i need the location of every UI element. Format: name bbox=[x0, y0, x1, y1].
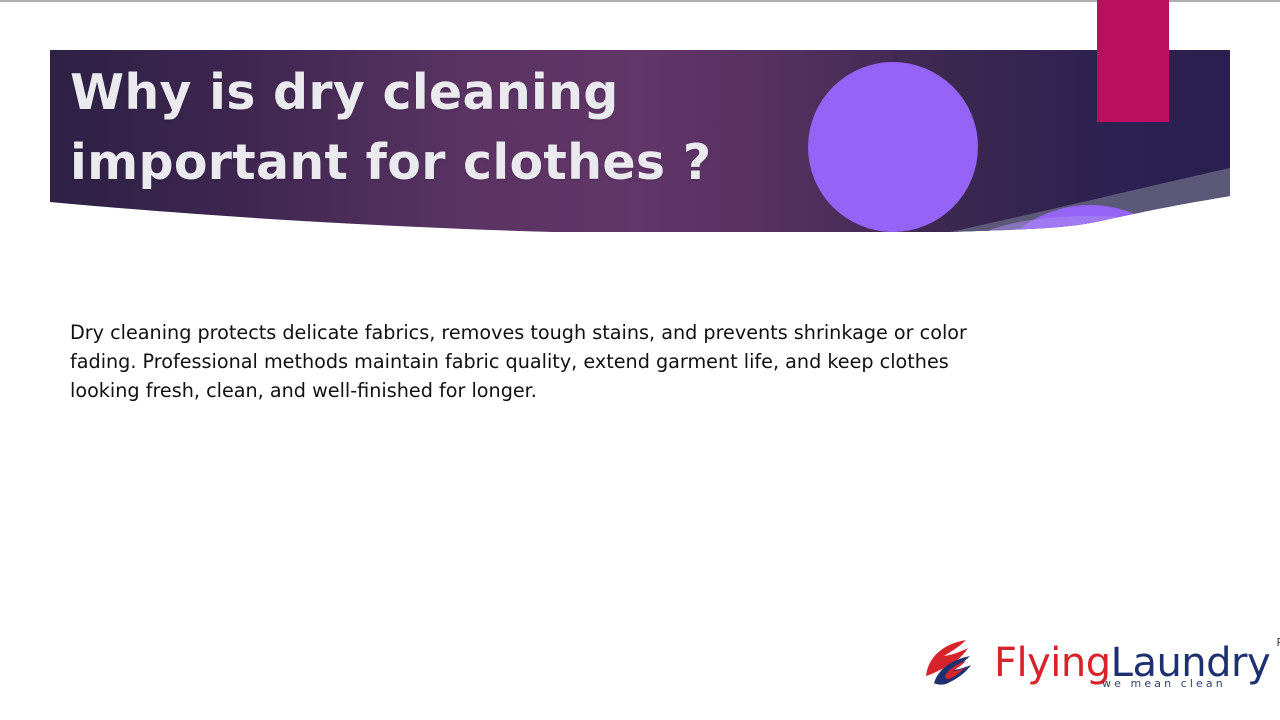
slide-top-divider bbox=[0, 0, 1280, 2]
logo-tagline: we mean clean bbox=[1102, 677, 1226, 690]
presentation-slide: Why is dry cleaning important for clothe… bbox=[0, 0, 1280, 720]
registered-trademark-mark: R bbox=[1277, 636, 1280, 649]
brand-logo: FlyingLaundry we mean clean R bbox=[922, 632, 1242, 694]
slide-body-text: Dry cleaning protects delicate fabrics, … bbox=[70, 318, 1005, 405]
logo-word-flying: Flying bbox=[994, 640, 1111, 686]
slide-title: Why is dry cleaning important for clothe… bbox=[70, 58, 930, 198]
magenta-accent-block bbox=[1097, 0, 1169, 122]
logo-text-group: FlyingLaundry we mean clean R bbox=[994, 636, 1270, 690]
wing-swoosh-icon bbox=[922, 636, 988, 690]
